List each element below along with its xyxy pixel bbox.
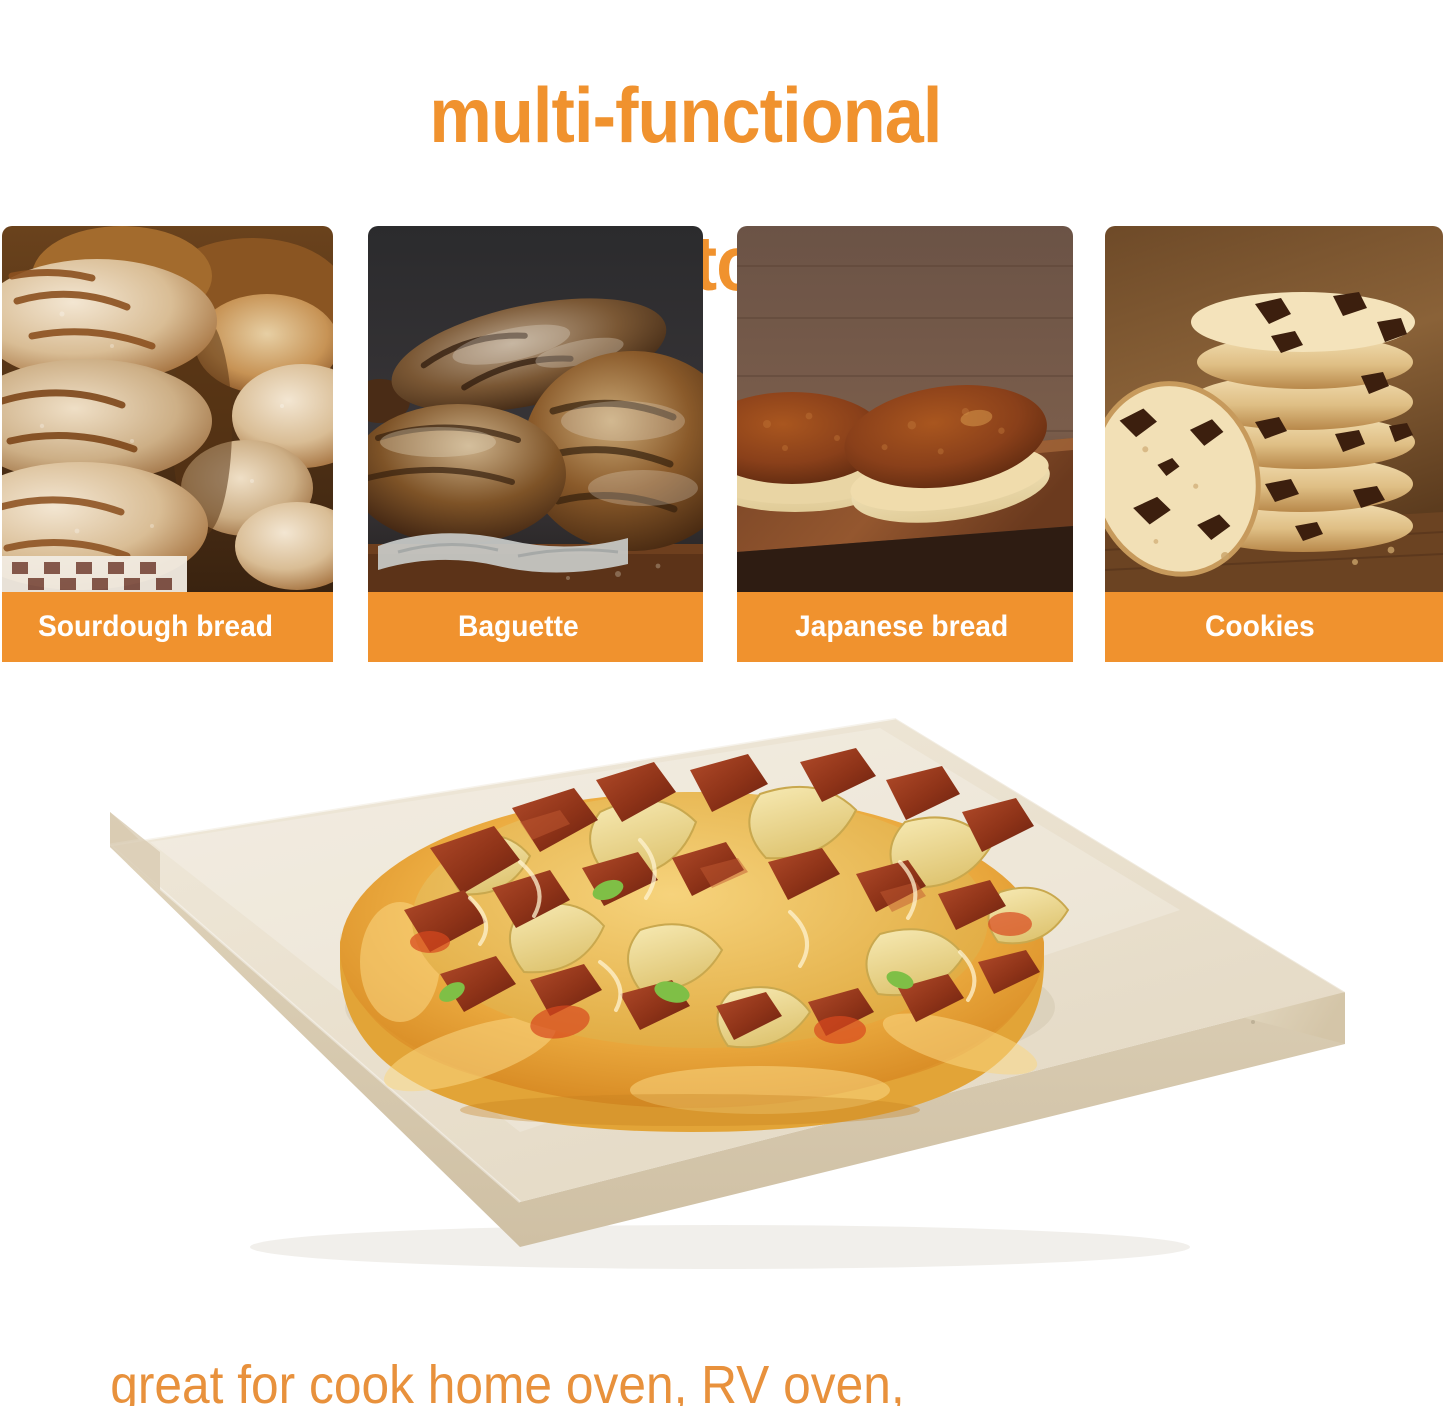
tile-label: Japanese bread (795, 610, 1008, 644)
use-case-tiles: Sourdough bread (0, 226, 1445, 662)
use-case-tile-baguette: Baguette (368, 226, 703, 662)
tile-label-bar: Cookies (1105, 592, 1443, 662)
product-infographic: multi-functional baking stone (0, 0, 1445, 1406)
footer-caption-line-1: great for cook home oven, RV oven, (110, 1355, 904, 1406)
japanese-bread-photo (737, 226, 1073, 592)
tile-label: Cookies (1205, 610, 1315, 644)
tile-label: Baguette (458, 610, 579, 644)
use-case-tile-japanese-bread: Japanese bread (737, 226, 1073, 662)
footer-caption: great for cook home oven, RV oven, charc… (55, 1292, 1095, 1406)
baguette-photo (368, 226, 703, 592)
baking-stone-with-pizza-photo (0, 662, 1445, 1292)
sourdough-bread-photo (2, 226, 333, 592)
page-title-line-1: multi-functional (429, 71, 941, 159)
tile-label: Sourdough bread (38, 610, 273, 644)
use-case-tile-sourdough-bread: Sourdough bread (2, 226, 333, 662)
tile-label-bar: Baguette (368, 592, 703, 662)
tile-label-bar: Japanese bread (737, 592, 1073, 662)
cookies-photo (1105, 226, 1443, 592)
tile-label-bar: Sourdough bread (2, 592, 333, 662)
use-case-tile-cookies: Cookies (1105, 226, 1443, 662)
